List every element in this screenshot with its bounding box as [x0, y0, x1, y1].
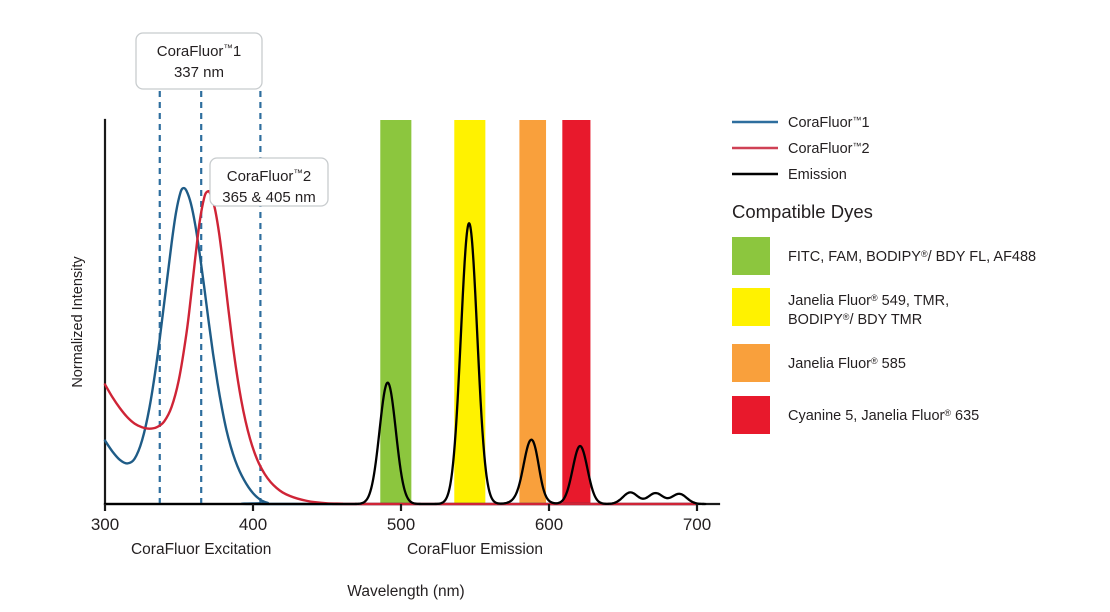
corafluor1-callout: CoraFluor™1337 nm — [136, 33, 262, 89]
dye-label-1-line-1: FITC, FAM, BODIPY®/ BDY FL, AF488 — [788, 249, 1036, 265]
x-tick-label-400: 400 — [239, 515, 267, 534]
compatible-dyes-heading: Compatible Dyes — [732, 201, 873, 222]
x-tick-label-500: 500 — [387, 515, 415, 534]
dye-label-4-line-1: Cyanine 5, Janelia Fluor® 635 — [788, 408, 979, 424]
axis-region-label-2: CoraFluor Emission — [407, 541, 543, 558]
corafluor2-callout: CoraFluor™2365 & 405 nm — [210, 158, 328, 206]
orange-band — [519, 120, 546, 504]
x-tick-label-600: 600 — [535, 515, 563, 534]
x-axis-title: Wavelength (nm) — [347, 583, 464, 600]
red-band — [562, 120, 590, 504]
legend-label-3: Emission — [788, 167, 847, 183]
dye-label-3-line-1: Janelia Fluor® 585 — [788, 356, 906, 372]
yellow-band — [454, 120, 485, 504]
dye-swatch-2 — [732, 288, 770, 326]
dye-label-2-line-2: BODIPY®/ BDY TMR — [788, 312, 922, 328]
dye-item-2: Janelia Fluor® 549, TMR,BODIPY®/ BDY TMR — [732, 288, 949, 328]
corafluor1-callout-line2: 337 nm — [174, 64, 224, 81]
axis-region-label-1: CoraFluor Excitation — [131, 541, 271, 558]
x-tick-label-700: 700 — [683, 515, 711, 534]
dye-swatch-1 — [732, 237, 770, 275]
dye-swatch-4 — [732, 396, 770, 434]
dye-swatch-3 — [732, 344, 770, 382]
corafluor2-callout-line2: 365 & 405 nm — [222, 189, 315, 206]
dye-label-2-line-1: Janelia Fluor® 549, TMR, — [788, 293, 949, 309]
x-tick-label-300: 300 — [91, 515, 119, 534]
green-band — [380, 120, 411, 504]
y-axis-title: Normalized Intensity — [70, 256, 86, 388]
spectra-chart: 300400500600700CoraFluor ExcitationCoraF… — [0, 0, 1110, 612]
